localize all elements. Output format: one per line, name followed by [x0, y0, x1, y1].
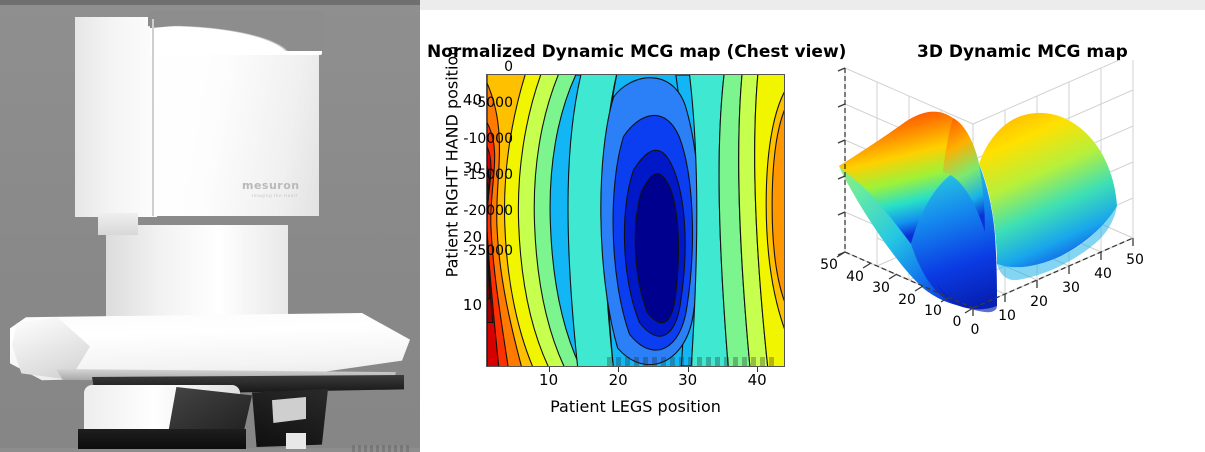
surface-chart: 0-5000-10000-15000-20000-25000 504030201…: [805, 60, 1205, 420]
figure-top-strip: [420, 0, 1205, 10]
contour-chart: Patient RIGHT HAND position 10203040: [420, 60, 800, 420]
scanner-base-foot: [78, 429, 246, 449]
surface-left-axis-tick-40: 40: [846, 269, 864, 285]
surface-left-axis-tick-20: 20: [898, 292, 916, 308]
contour-x-tick-30: 30: [678, 371, 697, 389]
surface-left-axis-tick-50: 50: [820, 257, 838, 273]
mcg-scanner-photograph: mesuron Imaging the Heart: [0, 0, 420, 452]
contour-x-axis-label: Patient LEGS position: [486, 397, 785, 416]
contour-faint-watermark: [607, 357, 777, 366]
photo-background: mesuron Imaging the Heart: [0, 5, 420, 448]
contour-x-tick-40: 40: [748, 371, 767, 389]
contour-x-tickmark-10: [549, 367, 550, 372]
scanner-head-underlip: [98, 213, 138, 235]
contour-filled-bands: [487, 75, 784, 366]
mesuron-tagline: Imaging the Heart: [252, 193, 314, 199]
bed-mechanism-pin: [286, 433, 306, 449]
surface-z-tick--5000: -5000: [472, 95, 513, 111]
surface-left-axis-tick-30: 30: [872, 280, 890, 296]
surface-chart-title: 3D Dynamic MCG map: [917, 42, 1128, 62]
surface-z-tick--20000: -20000: [463, 203, 513, 219]
surface-left-axis-tick-10: 10: [924, 303, 942, 319]
surface-left-axis-tick-0: 0: [953, 314, 962, 330]
surface-right-axis-tick-0: 0: [971, 322, 980, 338]
contour-x-tickmark-40: [757, 367, 758, 372]
contour-x-tick-20: 20: [609, 371, 628, 389]
surface-z-tick-0: 0: [504, 59, 513, 75]
surface-z-tick--15000: -15000: [463, 167, 513, 183]
contour-y-tick-labels: 10203040: [444, 74, 482, 367]
scanner-head-curve-shading: [148, 11, 324, 51]
surface-right-axis-tick-40: 40: [1094, 266, 1112, 282]
contour-x-tickmark-30: [688, 367, 689, 372]
contour-chart-title: Normalized Dynamic MCG map (Chest view): [427, 42, 846, 62]
contour-y-tick-10: 10: [450, 296, 482, 314]
surface-right-axis-tick-30: 30: [1062, 280, 1080, 296]
scanner-rear-column: [106, 225, 288, 325]
mcg-figure-panel: Normalized Dynamic MCG map (Chest view) …: [420, 0, 1205, 452]
surface-z-tick--25000: -25000: [463, 243, 513, 259]
surface-right-axis-tick-50: 50: [1126, 252, 1144, 268]
photo-bottom-artifact: [352, 445, 410, 452]
contour-x-tickmark-20: [618, 367, 619, 372]
screenshot-root: mesuron Imaging the Heart Normalized Dyn…: [0, 0, 1205, 452]
surface-z-tick-labels: 0-5000-10000-15000-20000-25000: [805, 60, 883, 360]
surface-right-axis-tick-20: 20: [1030, 294, 1048, 310]
bed-mechanism-label-plate: [272, 397, 306, 423]
surface-z-tick--10000: -10000: [463, 131, 513, 147]
scanner-head-seam: [152, 19, 154, 216]
contour-plot-area: [486, 74, 785, 367]
contour-x-tick-10: 10: [539, 371, 558, 389]
contour-x-tick-labels: 10203040: [486, 371, 785, 391]
scanner-head-side-panel: [75, 17, 157, 217]
surface-right-axis-tick-10: 10: [998, 308, 1016, 324]
